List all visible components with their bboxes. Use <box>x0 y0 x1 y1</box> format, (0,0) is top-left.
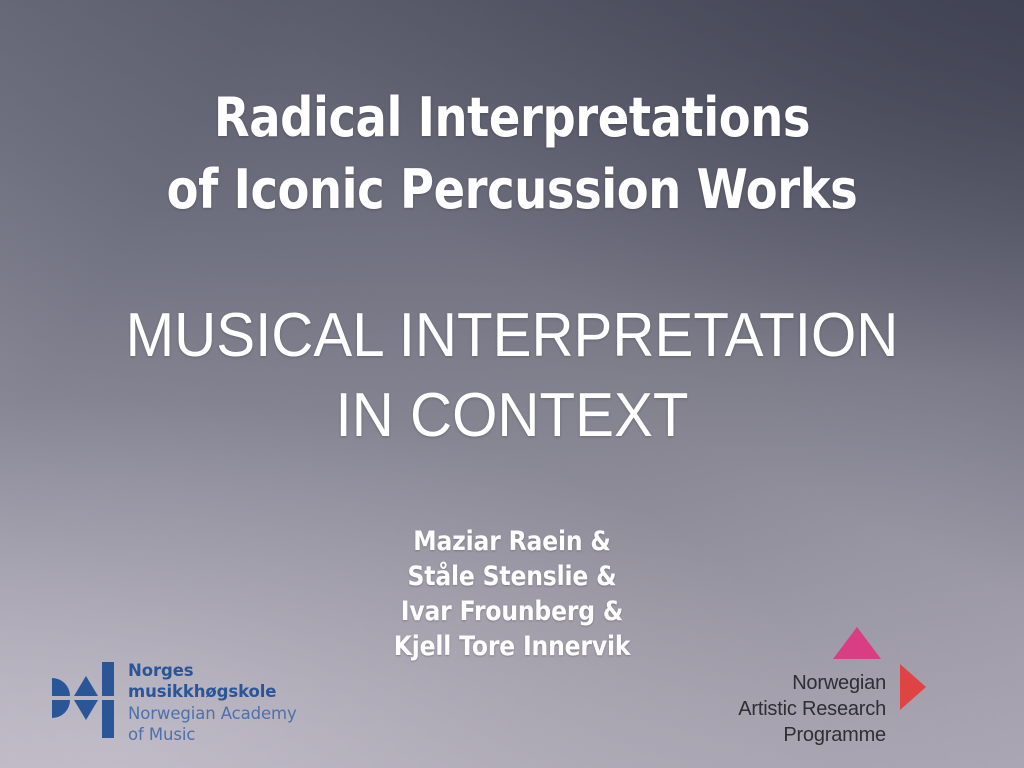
nmh-logo-wordmark: Norges musikkhøgskole Norwegian Academy … <box>128 658 297 746</box>
nmh-logo-mark-icon <box>52 658 114 742</box>
nmh-wordmark-line-2: musikkhøgskole <box>128 681 297 702</box>
triangle-up-icon <box>833 627 881 659</box>
nmh-wordmark-line-1: Norges <box>128 660 297 681</box>
nmh-wordmark-line-3: Norwegian Academy <box>128 703 297 724</box>
narp-wordmark-line-2: Artistic Research <box>690 696 886 722</box>
slide-main-title-line-1: MUSICAL INTERPRETATION <box>31 296 994 376</box>
narp-wordmark-line-3: Programme <box>690 722 886 748</box>
slide-subtitle-line-1: Radical Interpretations <box>72 82 953 154</box>
norwegian-academy-of-music-logo: Norges musikkhøgskole Norwegian Academy … <box>52 658 297 746</box>
slide-subtitle: Radical Interpretations of Iconic Percus… <box>72 82 953 226</box>
triangle-right-icon <box>900 664 926 710</box>
author-name-1: Maziar Raein & <box>67 524 958 559</box>
slide-main-title-line-2: IN CONTEXT <box>31 376 994 456</box>
presentation-slide: Radical Interpretations of Iconic Percus… <box>0 0 1024 768</box>
slide-main-title: MUSICAL INTERPRETATION IN CONTEXT <box>31 296 994 456</box>
narp-wordmark-line-1: Norwegian <box>690 670 886 696</box>
norwegian-artistic-research-programme-logo: Norwegian Artistic Research Programme <box>690 618 940 758</box>
slide-subtitle-line-2: of Iconic Percussion Works <box>72 154 953 226</box>
narp-logo-wordmark: Norwegian Artistic Research Programme <box>690 670 886 748</box>
nmh-wordmark-line-4: of Music <box>128 724 297 745</box>
author-name-2: Ståle Stenslie & <box>67 559 958 594</box>
